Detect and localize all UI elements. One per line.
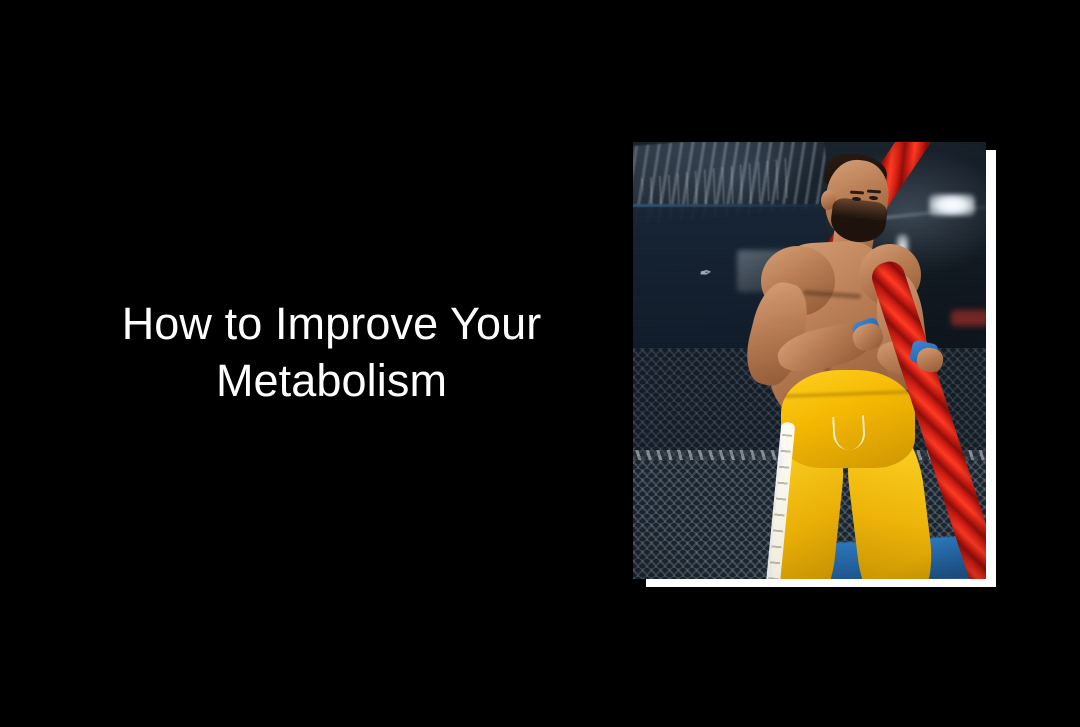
title-line-1: How to Improve Your [0,295,663,352]
photo-frame-bottom-edge [646,578,996,587]
athlete-figure [633,142,986,579]
title-line-2: Metabolism [0,352,663,409]
page-title: How to Improve Your Metabolism [0,295,663,409]
yellow-leggings [761,370,933,579]
photo-frame-right-edge [985,150,996,587]
slide-canvas: How to Improve Your Metabolism ✒ [0,0,1080,727]
hero-photo: ✒ [633,142,986,579]
photo-canvas: ✒ [633,142,986,579]
